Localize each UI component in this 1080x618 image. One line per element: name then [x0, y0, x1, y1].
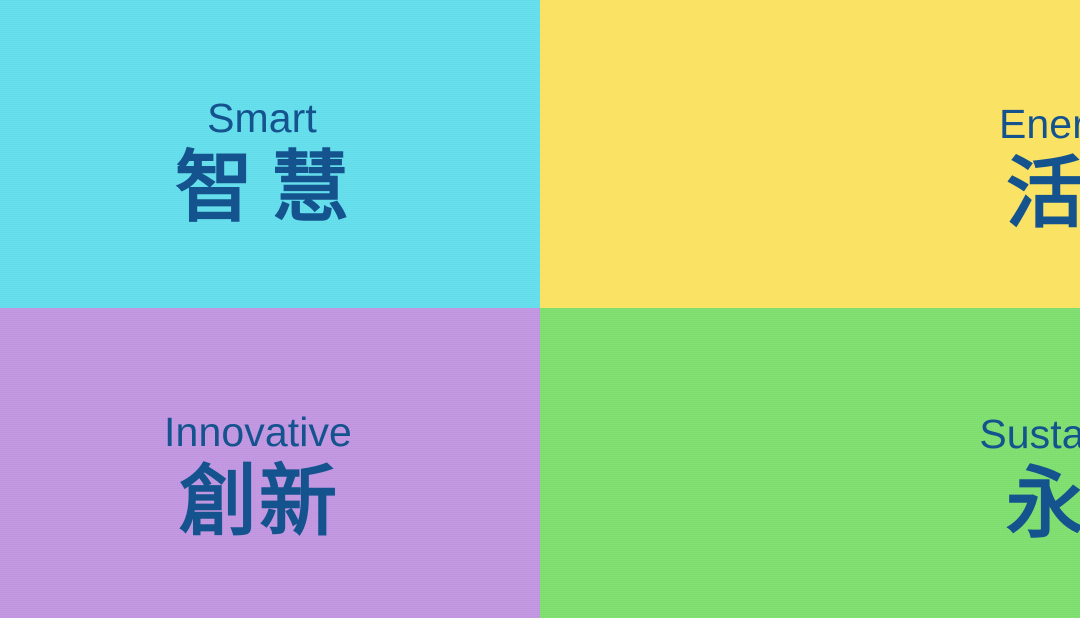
quadrant-smart-english-label: Smart: [157, 97, 367, 140]
brand-values-board: Smart 智慧 Energetic 活力 Innovative 創新 Sust…: [0, 0, 1080, 618]
quadrant-sustainable-content: Sustainable 永續: [979, 413, 1080, 546]
quadrant-sustainable-chinese-label: 永續: [979, 462, 1080, 546]
quadrant-energetic-content: Energetic 活力: [999, 103, 1080, 236]
quadrant-innovative-english-label: Innovative: [164, 411, 352, 454]
quadrant-energetic-english-label: Energetic: [999, 103, 1080, 146]
quadrant-innovative[interactable]: Innovative 創新: [0, 308, 540, 618]
quadrant-innovative-content: Innovative 創新: [164, 411, 352, 544]
quadrant-energetic-chinese-label: 活力: [999, 152, 1080, 236]
quadrant-smart-chinese-label: 智慧: [157, 146, 367, 230]
quadrant-sustainable-english-label: Sustainable: [979, 413, 1080, 456]
quadrant-energetic[interactable]: Energetic 活力: [540, 0, 1080, 308]
quadrant-smart[interactable]: Smart 智慧: [0, 0, 540, 308]
quadrant-sustainable[interactable]: Sustainable 永續: [540, 308, 1080, 618]
quadrant-smart-content: Smart 智慧: [157, 97, 367, 230]
quadrant-innovative-chinese-label: 創新: [164, 460, 352, 544]
